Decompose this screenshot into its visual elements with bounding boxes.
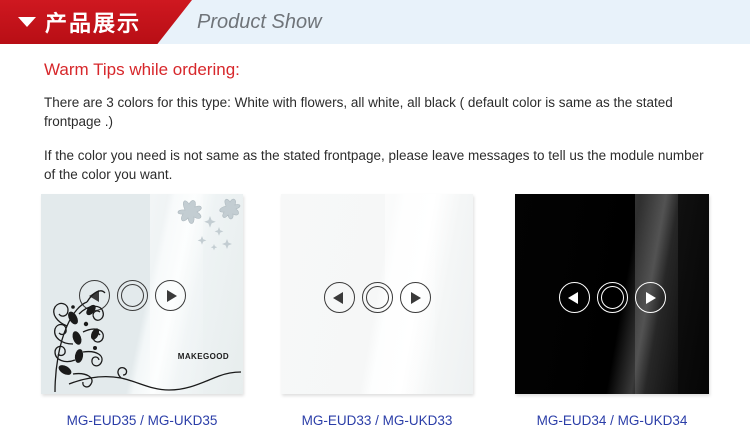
product-image[interactable]: MAKEGOOD bbox=[24, 194, 260, 399]
product-card[interactable]: MG-EUD33 / MG-UKD33 bbox=[259, 194, 495, 428]
dim-down-button[interactable] bbox=[324, 282, 355, 313]
tips-section: Warm Tips while ordering: There are 3 co… bbox=[0, 60, 750, 184]
product-caption: MG-EUD34 / MG-UKD34 bbox=[494, 413, 730, 428]
section-badge: 产品展示 bbox=[0, 0, 192, 44]
brand-logo: MAKEGOOD bbox=[178, 352, 229, 361]
triangle-left-icon bbox=[333, 292, 343, 304]
product-caption: MG-EUD33 / MG-UKD33 bbox=[259, 413, 495, 428]
touch-controls[interactable] bbox=[41, 280, 243, 311]
touch-controls[interactable] bbox=[281, 282, 473, 313]
power-button[interactable] bbox=[362, 282, 393, 313]
touch-controls[interactable] bbox=[515, 282, 709, 313]
page-header: 产品展示 Product Show bbox=[0, 0, 750, 44]
switch-panel-white-flower: MAKEGOOD bbox=[41, 194, 243, 394]
power-button[interactable] bbox=[597, 282, 628, 313]
triangle-right-icon bbox=[646, 292, 656, 304]
product-caption: MG-EUD35 / MG-UKD35 bbox=[24, 413, 260, 428]
flower-decoration-icon bbox=[155, 196, 241, 256]
triangle-down-icon bbox=[18, 17, 36, 27]
product-card[interactable]: MAKEGOOD MG-EUD35 / MG-UKD35 bbox=[24, 194, 260, 428]
section-title-en: Product Show bbox=[197, 0, 322, 44]
product-gallery: MAKEGOOD MG-EUD35 / MG-UKD35 bbox=[0, 194, 750, 439]
dim-up-button[interactable] bbox=[635, 282, 666, 313]
dim-down-button[interactable] bbox=[79, 280, 110, 311]
dim-up-button[interactable] bbox=[400, 282, 431, 313]
tips-title: Warm Tips while ordering: bbox=[44, 60, 706, 80]
switch-panel-all-black bbox=[515, 194, 709, 394]
tips-paragraph-2: If the color you need is not same as the… bbox=[44, 146, 706, 184]
triangle-left-icon bbox=[568, 292, 578, 304]
tips-paragraph-1: There are 3 colors for this type: White … bbox=[44, 93, 706, 131]
section-title-cn: 产品展示 bbox=[45, 6, 141, 38]
product-card[interactable]: MG-EUD34 / MG-UKD34 bbox=[494, 194, 730, 428]
triangle-left-icon bbox=[89, 290, 99, 302]
dim-up-button[interactable] bbox=[155, 280, 186, 311]
dim-down-button[interactable] bbox=[559, 282, 590, 313]
power-button[interactable] bbox=[117, 280, 148, 311]
triangle-right-icon bbox=[167, 290, 177, 302]
triangle-right-icon bbox=[411, 292, 421, 304]
product-image[interactable] bbox=[259, 194, 495, 399]
switch-panel-all-white bbox=[281, 194, 473, 394]
product-image[interactable] bbox=[494, 194, 730, 399]
